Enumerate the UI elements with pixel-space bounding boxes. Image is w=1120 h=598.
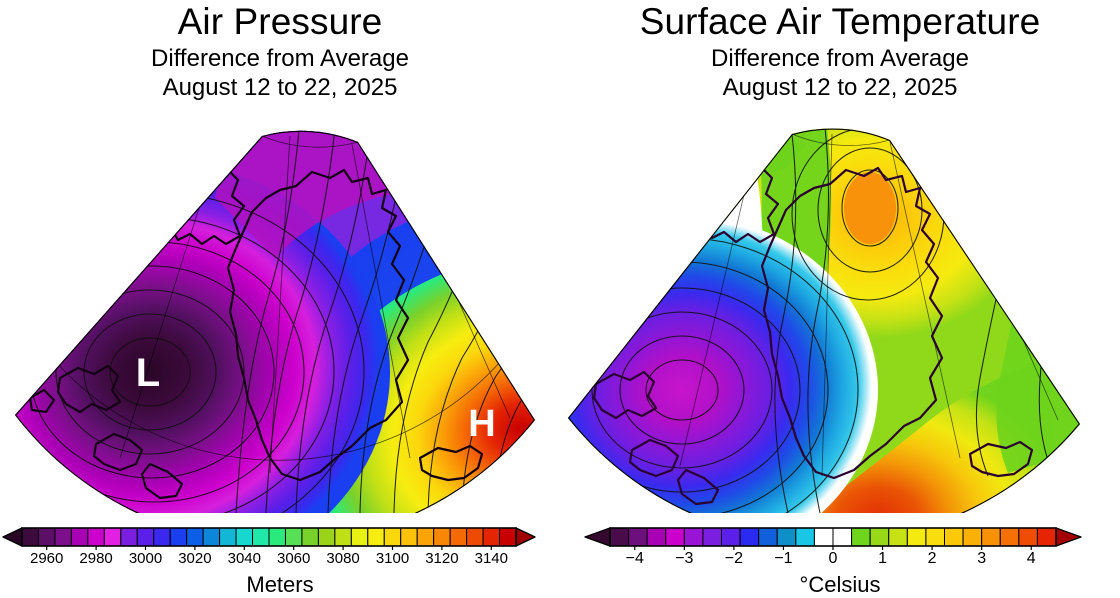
svg-text:2960: 2960 <box>30 550 63 567</box>
svg-text:3000: 3000 <box>129 550 162 567</box>
map-svg-left: L H <box>0 128 560 513</box>
map-field-left <box>0 128 560 513</box>
svg-text:−4: −4 <box>626 550 644 567</box>
panel-subtitle-right: Difference from Average <box>560 44 1120 73</box>
svg-text:−1: −1 <box>774 550 792 567</box>
map-svg-right <box>560 128 1120 513</box>
panel-titles-right: Surface Air Temperature Difference from … <box>560 0 1120 102</box>
svg-text:3100: 3100 <box>376 550 409 567</box>
page-title-right: Surface Air Temperature <box>560 0 1120 44</box>
colorbar-surface-air-temperature: −4−3−2−101234 °Celsius <box>560 520 1120 597</box>
colorbar-unit-right: °Celsius <box>560 572 1120 598</box>
colorbar-svg-right: −4−3−2−101234 <box>560 520 1120 568</box>
panel-titles-left: Air Pressure Difference from Average Aug… <box>0 0 560 102</box>
colorbar-cells-right <box>585 528 1081 546</box>
svg-text:4: 4 <box>1027 550 1036 567</box>
svg-text:−2: −2 <box>725 550 743 567</box>
svg-text:3060: 3060 <box>277 550 310 567</box>
panel-date-range-left: August 12 to 22, 2025 <box>0 73 560 102</box>
svg-text:0: 0 <box>829 550 838 567</box>
colorbar-tick-labels-right: −4−3−2−101234 <box>626 546 1036 567</box>
high-pressure-marker: H <box>468 403 495 445</box>
map-surface-air-temperature <box>560 128 1120 513</box>
svg-text:3080: 3080 <box>326 550 359 567</box>
svg-text:3040: 3040 <box>228 550 261 567</box>
colorbar-unit-left: Meters <box>0 572 560 598</box>
panel-subtitle-left: Difference from Average <box>0 44 560 73</box>
page-title-left: Air Pressure <box>0 0 560 44</box>
panel-date-range-right: August 12 to 22, 2025 <box>560 73 1120 102</box>
map-field-right <box>560 128 1120 513</box>
svg-text:2980: 2980 <box>79 550 112 567</box>
low-pressure-marker: L <box>136 351 160 395</box>
svg-text:−3: −3 <box>675 550 693 567</box>
svg-text:1: 1 <box>878 550 887 567</box>
colorbar-tick-labels-left: 2960298030003020304030603080310031203140 <box>30 546 508 567</box>
figure-root: Air Pressure Difference from Average Aug… <box>0 0 1120 597</box>
colorbar-air-pressure: 2960298030003020304030603080310031203140… <box>0 520 560 597</box>
colorbar-cells-left <box>3 528 535 546</box>
svg-text:3020: 3020 <box>178 550 211 567</box>
map-air-pressure: L H <box>0 128 560 513</box>
svg-text:3140: 3140 <box>475 550 508 567</box>
svg-text:2: 2 <box>928 550 937 567</box>
panel-air-pressure: Air Pressure Difference from Average Aug… <box>0 0 560 597</box>
svg-text:3: 3 <box>977 550 986 567</box>
panel-surface-air-temperature: Surface Air Temperature Difference from … <box>560 0 1120 597</box>
svg-text:3120: 3120 <box>425 550 458 567</box>
colorbar-svg-left: 2960298030003020304030603080310031203140 <box>0 520 560 568</box>
